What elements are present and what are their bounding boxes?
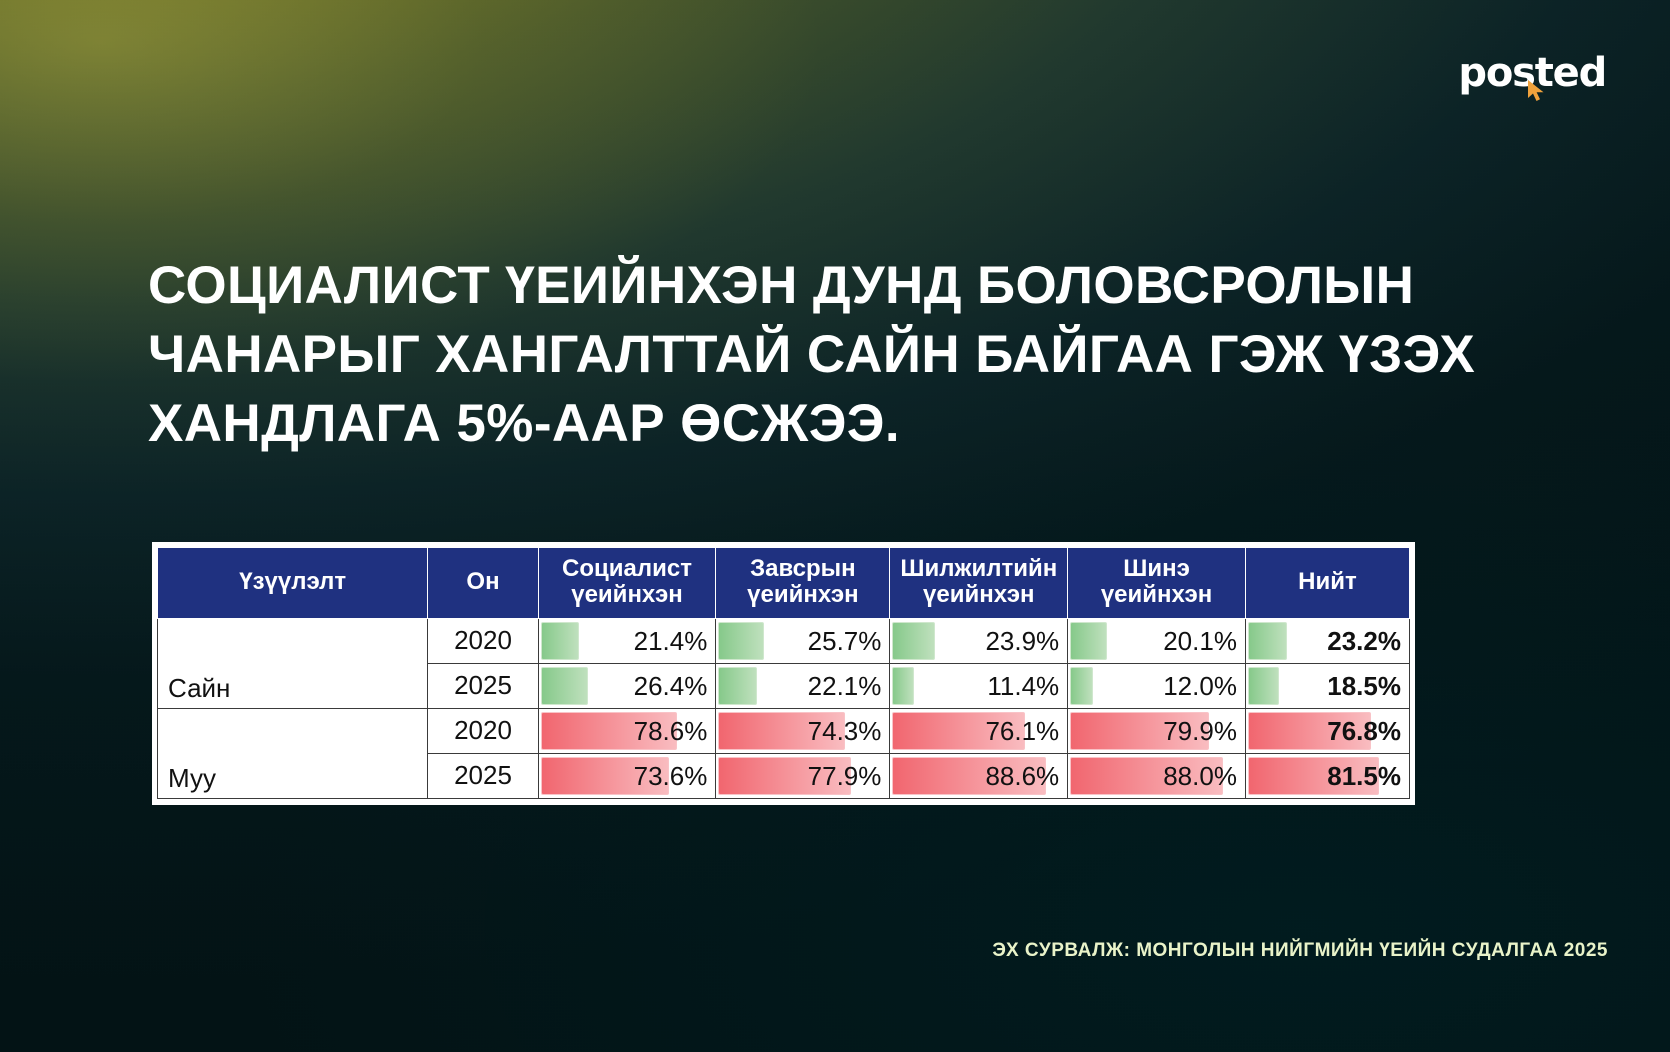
cell-value-text: 25.7% [716,620,889,662]
col-header-interim: Завсрын үеийнхэн [716,548,890,619]
cell-value-text: 73.6% [539,755,716,797]
data-table-card: Үзүүлэлт Он Социалист үеийнхэн Завсрын ү… [152,542,1415,805]
cell-value-text: 77.9% [716,755,889,797]
headline-line-3: ХАНДЛАГА 5%-ААР ӨСЖЭЭ. [148,390,1488,459]
cell-value-text: 81.5% [1246,755,1409,797]
cell-value-text: 88.0% [1068,755,1245,797]
cell-value-text: 18.5% [1246,665,1409,707]
cell-value: 11.4% [890,663,1068,708]
cell-year: 2025 [428,753,538,798]
col-header-socialist: Социалист үеийнхэн [538,548,716,619]
table-row: Муу202078.6%74.3%76.1%79.9%76.8% [158,708,1410,753]
col-header-new: Шинэ үеийнхэн [1068,548,1246,619]
cell-value: 79.9% [1068,708,1246,753]
table-header: Үзүүлэлт Он Социалист үеийнхэн Завсрын ү… [158,548,1410,619]
posted-logo: posted [1458,50,1606,96]
cell-value: 76.8% [1245,708,1409,753]
cell-value: 74.3% [716,708,890,753]
headline-line-2: ЧАНАРЫГ ХАНГАЛТТАЙ САЙН БАЙГАА ГЭЖ ҮЗЭХ [148,321,1488,390]
col-header-total: Нийт [1245,548,1409,619]
col-header-year: Он [428,548,538,619]
cell-year: 2020 [428,708,538,753]
cell-year: 2020 [428,618,538,663]
cell-value: 77.9% [716,753,890,798]
cell-value-text: 23.9% [890,620,1067,662]
row-group-label: Сайн [158,618,428,708]
cell-value: 81.5% [1245,753,1409,798]
table-body: Сайн202021.4%25.7%23.9%20.1%23.2%202526.… [158,618,1410,798]
background-glow [0,0,1670,1052]
cell-value: 76.1% [890,708,1068,753]
cell-year: 2025 [428,663,538,708]
cell-value: 78.6% [538,708,716,753]
cell-value: 88.6% [890,753,1068,798]
cell-value: 23.2% [1245,618,1409,663]
cell-value: 26.4% [538,663,716,708]
cell-value-text: 12.0% [1068,665,1245,707]
cell-value-text: 76.1% [890,710,1067,752]
cell-value: 21.4% [538,618,716,663]
cell-value: 73.6% [538,753,716,798]
cell-value-text: 22.1% [716,665,889,707]
col-header-transition: Шилжилтийн үеийнхэн [890,548,1068,619]
cell-value-text: 74.3% [716,710,889,752]
cell-value: 12.0% [1068,663,1246,708]
cell-value: 22.1% [716,663,890,708]
cell-value-text: 21.4% [539,620,716,662]
cell-value-text: 78.6% [539,710,716,752]
source-caption: ЭХ СУРВАЛЖ: МОНГОЛЫН НИЙГМИЙН ҮЕИЙН СУДА… [992,940,1608,962]
data-table: Үзүүлэлт Он Социалист үеийнхэн Завсрын ү… [157,547,1410,799]
headline-line-1: СОЦИАЛИСТ ҮЕИЙНХЭН ДУНД БОЛОВСРОЛЫН [148,252,1488,321]
col-header-indicator: Үзүүлэлт [158,548,428,619]
cell-value-text: 26.4% [539,665,716,707]
page-title: СОЦИАЛИСТ ҮЕИЙНХЭН ДУНД БОЛОВСРОЛЫН ЧАНА… [148,252,1488,459]
cell-value: 23.9% [890,618,1068,663]
cell-value-text: 88.6% [890,755,1067,797]
row-group-label: Муу [158,708,428,798]
cell-value: 88.0% [1068,753,1246,798]
cell-value-text: 23.2% [1246,620,1409,662]
cell-value-text: 11.4% [890,665,1067,707]
table-header-row: Үзүүлэлт Он Социалист үеийнхэн Завсрын ү… [158,548,1410,619]
cell-value-text: 76.8% [1246,710,1409,752]
cell-value: 20.1% [1068,618,1246,663]
cell-value: 18.5% [1245,663,1409,708]
cell-value-text: 79.9% [1068,710,1245,752]
table-row: Сайн202021.4%25.7%23.9%20.1%23.2% [158,618,1410,663]
cell-value: 25.7% [716,618,890,663]
cell-value-text: 20.1% [1068,620,1245,662]
